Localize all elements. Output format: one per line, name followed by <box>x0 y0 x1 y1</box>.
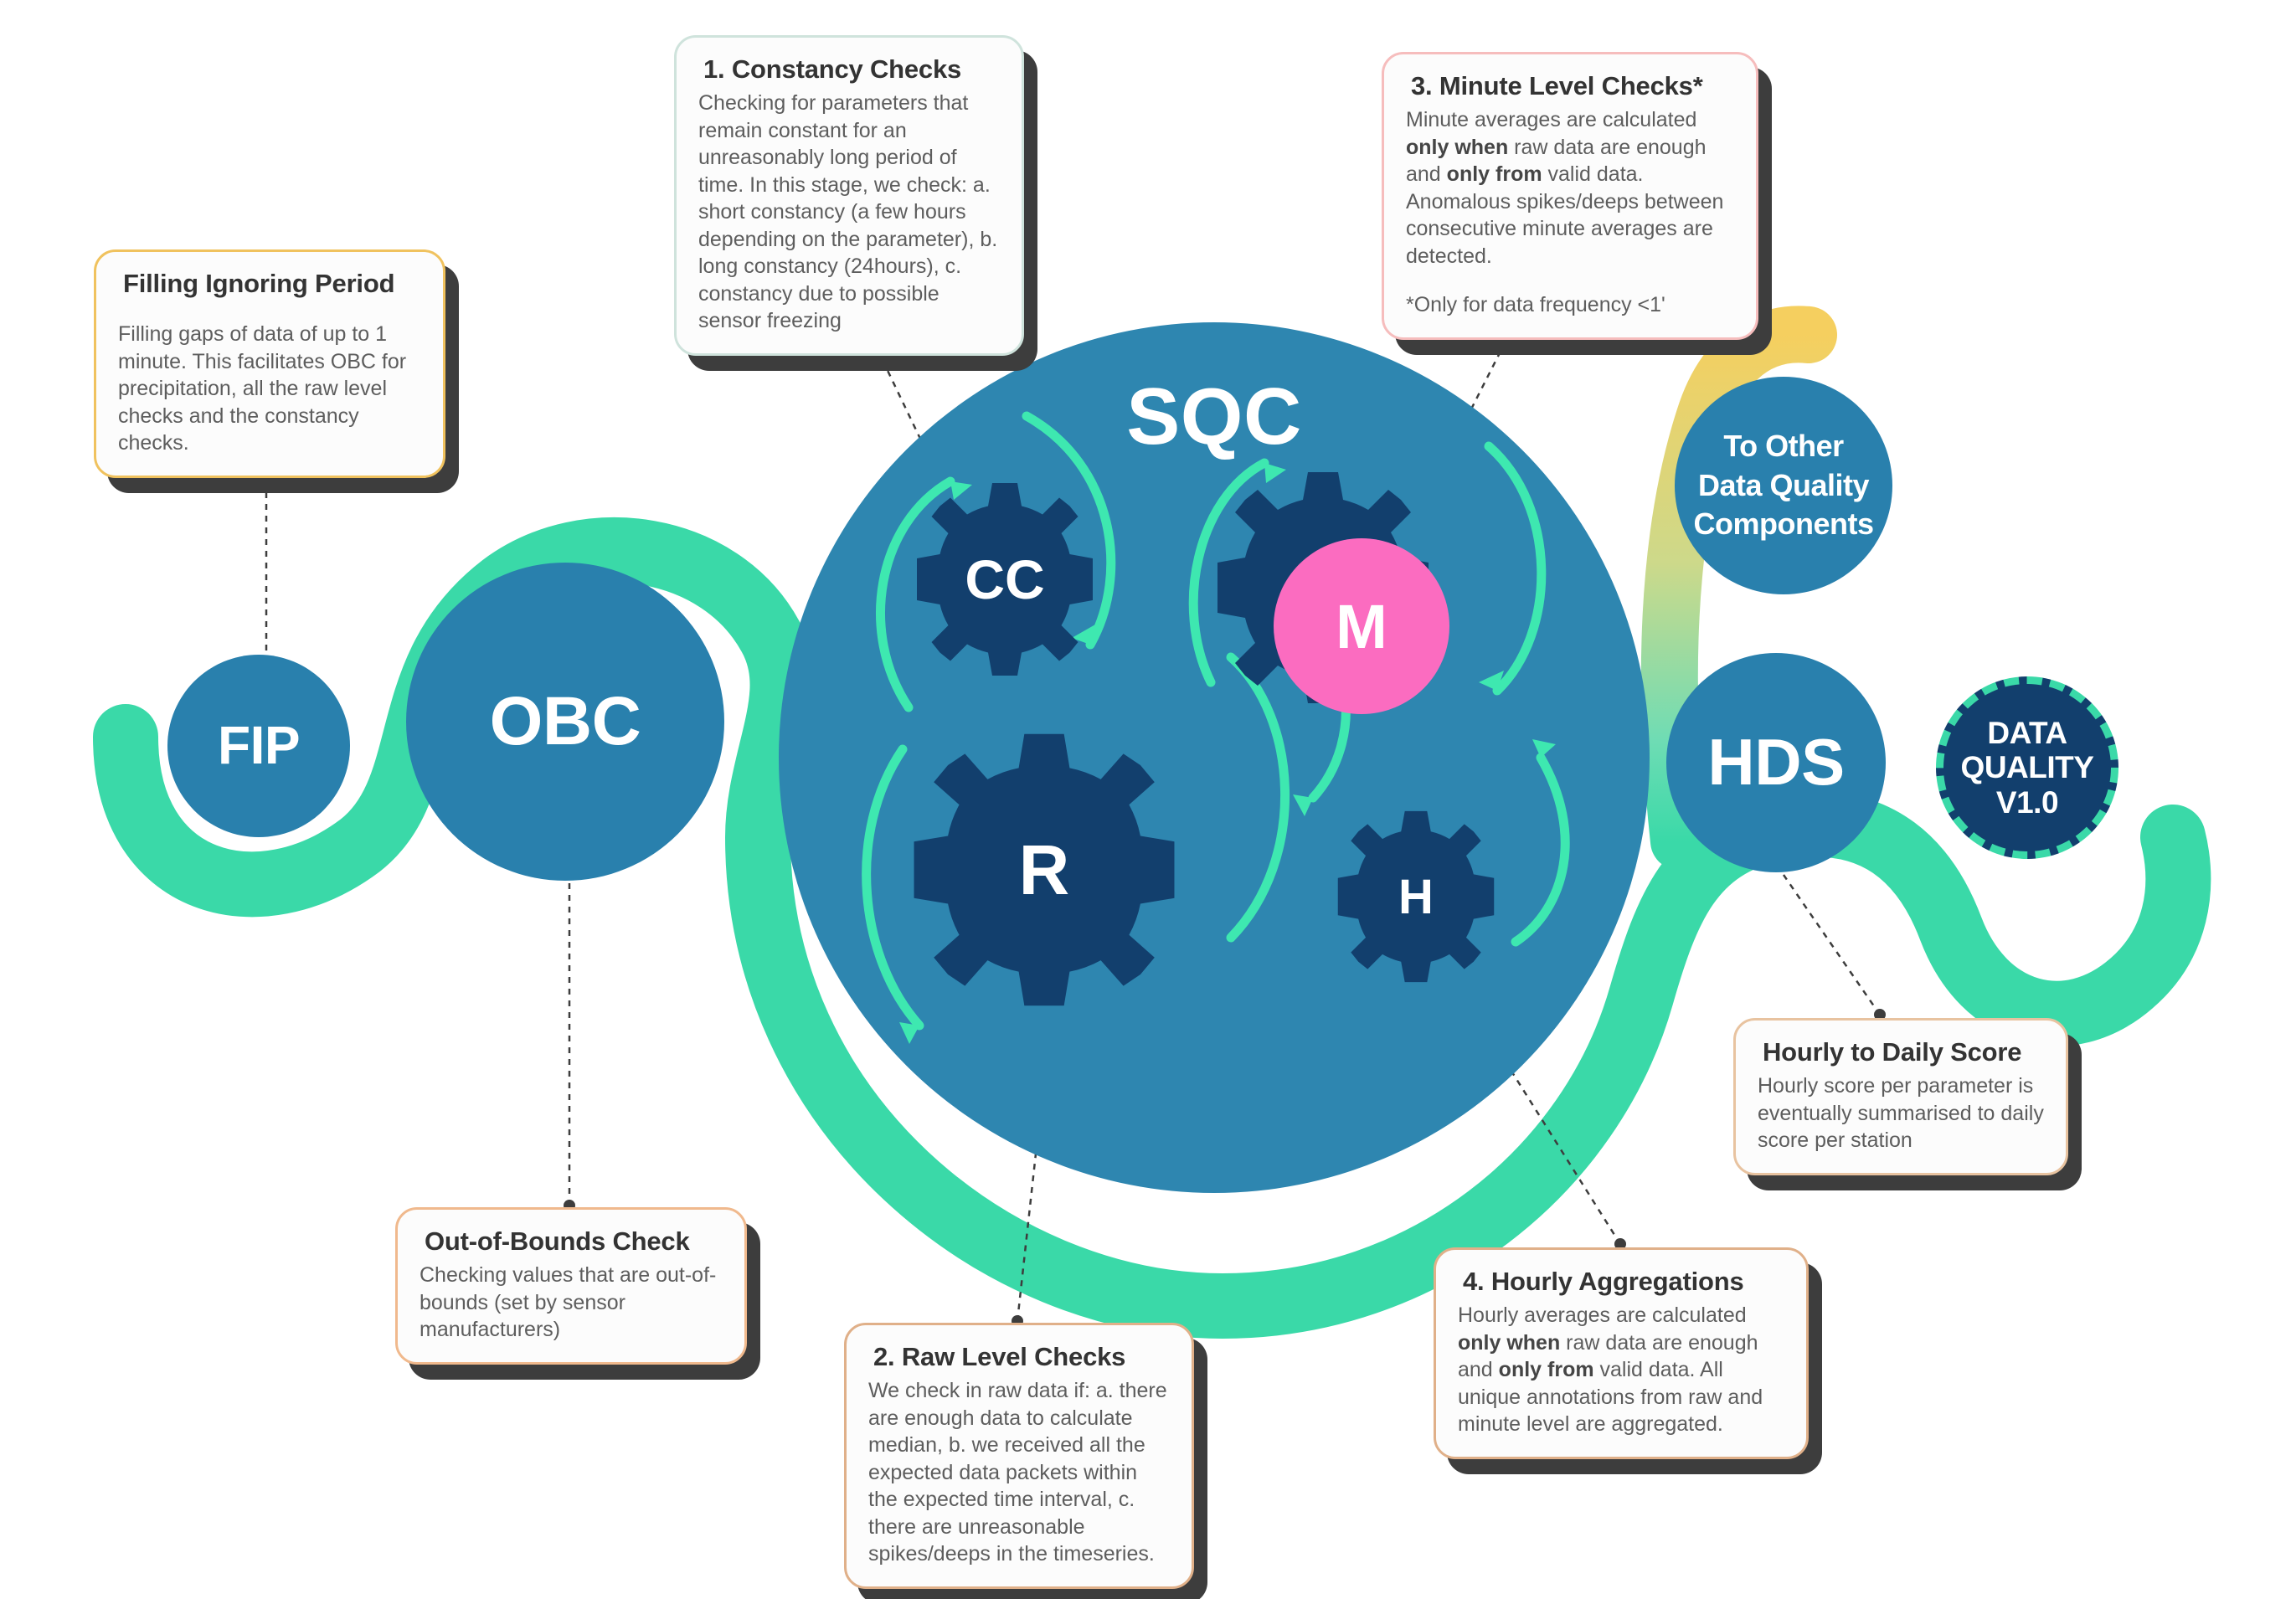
gear-cc[interactable]: CC <box>900 475 1109 684</box>
gear-h-label: H <box>1323 804 1509 990</box>
callout-filling-ignoring-period[interactable]: Filling Ignoring Period Filling gaps of … <box>94 249 445 478</box>
gear-h[interactable]: H <box>1323 804 1509 990</box>
node-data-quality-badge[interactable]: DATAQUALITYV1.0 <box>1936 676 2118 859</box>
callout-title: Filling Ignoring Period <box>123 269 421 299</box>
gear-cc-label: CC <box>900 475 1109 684</box>
callout-title: Hourly to Daily Score <box>1763 1037 2044 1067</box>
node-hds-label: HDS <box>1707 728 1844 797</box>
callout-hourly-to-daily-score[interactable]: Hourly to Daily Score Hourly score per p… <box>1733 1018 2068 1175</box>
callout-minute-level-checks[interactable]: 3. Minute Level Checks* Minute averages … <box>1382 52 1758 340</box>
callout-body: Checking for parameters that remain cons… <box>698 90 1000 335</box>
callout-title: 3. Minute Level Checks* <box>1411 71 1734 101</box>
gear-m-label: M <box>1336 591 1387 662</box>
arrow-m-right <box>1489 446 1542 691</box>
callout-out-of-bounds-check[interactable]: Out-of-Bounds Check Checking values that… <box>395 1207 747 1365</box>
callout-title: 2. Raw Level Checks <box>873 1342 1170 1372</box>
callout-title: 1. Constancy Checks <box>703 54 1000 85</box>
node-other-components[interactable]: To OtherData QualityComponents <box>1675 377 1892 594</box>
callout-title: 4. Hourly Aggregations <box>1463 1267 1784 1297</box>
callout-raw-level-checks[interactable]: 2. Raw Level Checks We check in raw data… <box>844 1323 1194 1589</box>
arrow-h-right <box>1516 758 1565 942</box>
node-data-quality-label: DATAQUALITYV1.0 <box>1961 716 2094 820</box>
callout-body: Hourly score per parameter is eventually… <box>1758 1072 2044 1154</box>
node-fip-label: FIP <box>218 717 300 774</box>
callout-body: Filling gaps of data of up to 1 minute. … <box>118 321 421 457</box>
gear-r[interactable]: R <box>903 728 1186 1011</box>
callout-title: Out-of-Bounds Check <box>425 1226 723 1257</box>
diagram-canvas: FIP OBC SQC <box>0 0 2296 1599</box>
callout-constancy-checks[interactable]: 1. Constancy Checks Checking for paramet… <box>674 35 1024 356</box>
callout-hourly-aggregations[interactable]: 4. Hourly Aggregations Hourly averages a… <box>1434 1247 1809 1459</box>
node-obc[interactable]: OBC <box>406 563 724 881</box>
node-fip[interactable]: FIP <box>167 655 350 837</box>
gear-m-core[interactable]: M <box>1274 538 1449 714</box>
callout-body: Hourly averages are calculated only when… <box>1458 1302 1784 1438</box>
callout-footnote: *Only for data frequency <1' <box>1406 291 1734 319</box>
callout-body: We check in raw data if: a. there are en… <box>868 1377 1170 1568</box>
arrowhead-r-left <box>899 1022 919 1044</box>
callout-body: Checking values that are out-of-bounds (… <box>420 1262 723 1344</box>
callout-body: Minute averages are calculated only when… <box>1406 106 1734 270</box>
node-other-components-label: To OtherData QualityComponents <box>1694 427 1874 544</box>
gear-r-label: R <box>903 728 1186 1011</box>
node-hds[interactable]: HDS <box>1666 653 1886 872</box>
node-obc-label: OBC <box>490 686 641 758</box>
arrowhead-h-left <box>1293 794 1313 816</box>
